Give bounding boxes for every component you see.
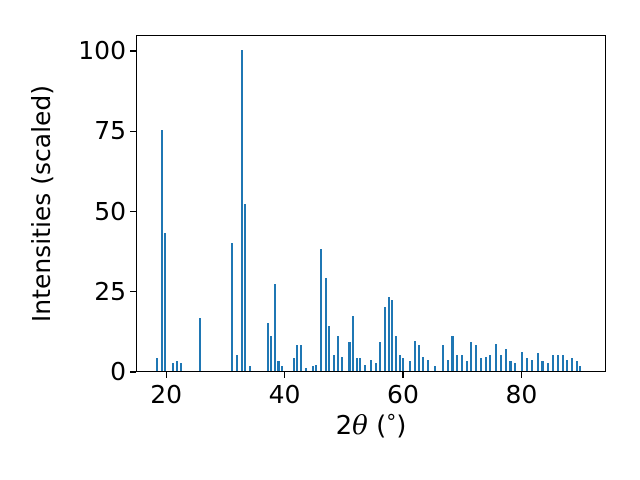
bar xyxy=(562,355,564,371)
bar xyxy=(267,323,269,371)
bar xyxy=(249,366,251,371)
bar xyxy=(236,355,238,371)
plot-area xyxy=(136,35,606,372)
bar xyxy=(571,358,573,371)
bar xyxy=(384,307,386,371)
bar xyxy=(172,363,174,371)
bar xyxy=(375,363,377,371)
bar xyxy=(161,130,163,371)
bar xyxy=(300,345,302,371)
x-tick-label: 60 xyxy=(387,380,419,410)
bar xyxy=(557,355,559,371)
bar xyxy=(395,336,397,371)
bar xyxy=(409,361,411,371)
bar xyxy=(537,353,539,371)
bar xyxy=(531,360,533,371)
bar xyxy=(320,249,322,371)
bar-series xyxy=(137,36,605,371)
bar xyxy=(388,297,390,371)
bar xyxy=(391,300,393,371)
bar xyxy=(414,341,416,371)
bar xyxy=(451,336,453,371)
bar xyxy=(356,358,358,371)
bar xyxy=(364,365,366,371)
bar xyxy=(514,363,516,371)
bar xyxy=(341,357,343,371)
bar xyxy=(552,355,554,371)
bar xyxy=(156,358,158,371)
bar xyxy=(480,358,482,371)
bar xyxy=(485,357,487,371)
bar xyxy=(325,278,327,371)
bar xyxy=(277,361,279,371)
bar xyxy=(281,366,283,371)
x-tick-label: 40 xyxy=(269,380,301,410)
x-tick-mark xyxy=(284,372,285,378)
bar xyxy=(442,345,444,371)
xrd-chart-figure: Intensities (scaled) 0255075100 20406080… xyxy=(0,0,640,480)
bar xyxy=(379,342,381,371)
bar xyxy=(470,342,472,371)
bar xyxy=(402,358,404,371)
bar xyxy=(495,344,497,371)
bar xyxy=(509,361,511,371)
bar xyxy=(489,355,491,371)
bar xyxy=(241,50,243,371)
bar xyxy=(231,243,233,371)
bar xyxy=(270,336,272,371)
bar xyxy=(164,233,166,371)
bar xyxy=(422,357,424,371)
bar xyxy=(328,326,330,371)
bar xyxy=(461,355,463,371)
bar xyxy=(521,352,523,371)
bar xyxy=(274,284,276,371)
bar xyxy=(244,204,246,371)
bar xyxy=(348,342,350,371)
x-tick-label: 20 xyxy=(150,380,182,410)
y-tick-label: 25 xyxy=(94,276,126,308)
bar xyxy=(456,355,458,371)
y-tick-label: 100 xyxy=(78,35,126,67)
bar xyxy=(526,358,528,371)
bar xyxy=(579,366,581,371)
bar xyxy=(475,345,477,371)
bar xyxy=(434,366,436,371)
x-axis-title: 2θ (°) xyxy=(136,410,606,441)
bar xyxy=(337,336,339,371)
x-tick-mark xyxy=(166,372,167,378)
bar xyxy=(427,360,429,371)
bar xyxy=(566,360,568,371)
bar xyxy=(399,355,401,371)
bar xyxy=(305,368,307,371)
bar xyxy=(547,363,549,371)
y-tick-label: 75 xyxy=(94,115,126,147)
bar xyxy=(293,358,295,371)
bar xyxy=(180,363,182,371)
bar xyxy=(296,345,298,371)
x-tick-mark xyxy=(402,372,403,378)
bar xyxy=(505,349,507,371)
bar xyxy=(370,360,372,371)
bar xyxy=(466,361,468,371)
bar xyxy=(541,361,543,371)
bar xyxy=(576,361,578,371)
bar xyxy=(312,366,314,371)
bar xyxy=(418,345,420,371)
bar xyxy=(359,358,361,371)
bar xyxy=(447,360,449,371)
x-tick-label: 80 xyxy=(505,380,537,410)
bar xyxy=(199,318,201,371)
bar xyxy=(500,355,502,371)
bar xyxy=(176,361,178,371)
bar xyxy=(333,355,335,371)
y-tick-label: 50 xyxy=(94,196,126,228)
bar xyxy=(352,316,354,371)
x-tick-mark xyxy=(521,372,522,378)
bar xyxy=(315,365,317,371)
